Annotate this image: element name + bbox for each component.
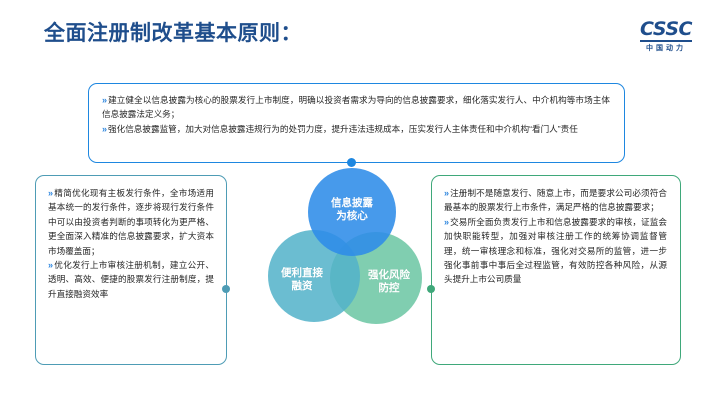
- page-title: 全面注册制改革基本原则：: [44, 17, 302, 47]
- principle-card-right: »注册制不是随意发行、随意上市，而是要求公司必须符合最基本的股票发行上市条件，满…: [431, 175, 681, 365]
- venn-label-left: 便利直接融资: [280, 267, 324, 294]
- connector-dot-right: [427, 285, 435, 293]
- principle-card-left: »精简优化现有主板发行条件，全市场适用基本统一的发行条件，逐步将现行发行条件中可…: [35, 175, 227, 365]
- card-left-text-2: 优化发行上市审核注册机制，建立公开、透明、高效、便捷的股票发行注册制度，提升直接…: [48, 260, 214, 299]
- card-top-item-2: »强化信息披露监管，加大对信息披露违规行为的处罚力度，提升违法违规成本，压实发行…: [102, 122, 610, 136]
- card-top-text-1: 建立健全以信息披露为核心的股票发行上市制度，明确以投资者需求为导向的信息披露要求…: [102, 95, 610, 119]
- card-right-item-2: »交易所全面负责发行上市和信息披露要求的审核，证监会加快职能转型，加强对审核注册…: [444, 215, 667, 287]
- connector-line-top: [354, 162, 484, 164]
- card-right-item-1: »注册制不是随意发行、随意上市，而是要求公司必须符合最基本的股票发行上市条件，满…: [444, 186, 667, 215]
- cssc-logo: CSSC 中国动力: [630, 20, 702, 52]
- venn-circle-disclosure-core: 信息披露为核心: [308, 168, 396, 256]
- card-left-item-1: »精简优化现有主板发行条件，全市场适用基本统一的发行条件，逐步将现行发行条件中可…: [48, 186, 214, 258]
- card-left-text-1: 精简优化现有主板发行条件，全市场适用基本统一的发行条件，逐步将现行发行条件中可以…: [48, 188, 214, 256]
- logo-subtitle: 中国动力: [630, 45, 702, 52]
- venn-diagram: 信息披露为核心 便利直接融资 强化风险防控: [268, 168, 420, 328]
- connector-dot-top: [347, 158, 356, 167]
- venn-label-right: 强化风险防控: [367, 269, 411, 296]
- principle-card-top: »建立健全以信息披露为核心的股票发行上市制度，明确以投资者需求为导向的信息披露要…: [88, 83, 625, 163]
- card-top-text-2: 强化信息披露监管，加大对信息披露违规行为的处罚力度，提升违法违规成本，压实发行人…: [108, 124, 578, 134]
- card-top-item-1: »建立健全以信息披露为核心的股票发行上市制度，明确以投资者需求为导向的信息披露要…: [102, 93, 610, 122]
- venn-label-top: 信息披露为核心: [330, 197, 374, 224]
- logo-wordmark: CSSC: [640, 20, 692, 42]
- card-right-text-2: 交易所全面负责发行上市和信息披露要求的审核，证监会加快职能转型，加强对审核注册工…: [444, 217, 667, 285]
- card-left-item-2: »优化发行上市审核注册机制，建立公开、透明、高效、便捷的股票发行注册制度，提升直…: [48, 258, 214, 301]
- card-right-text-1: 注册制不是随意发行、随意上市，而是要求公司必须符合最基本的股票发行上市条件，满足…: [444, 188, 667, 212]
- connector-dot-left: [222, 285, 230, 293]
